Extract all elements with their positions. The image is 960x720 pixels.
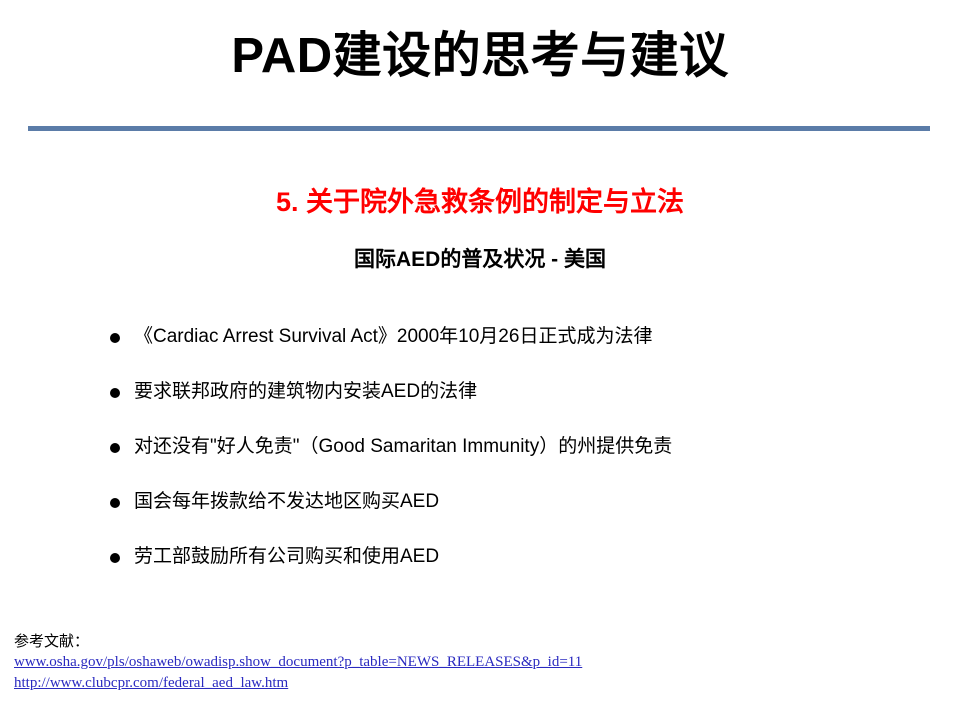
list-item: 国会每年拨款给不发达地区购买AED — [108, 485, 928, 540]
bullet-dot-icon — [110, 333, 120, 343]
list-item: 劳工部鼓励所有公司购买和使用AED — [108, 540, 928, 595]
bullet-dot-icon — [110, 553, 120, 563]
list-item: 《Cardiac Arrest Survival Act》2000年10月26日… — [108, 320, 928, 375]
reference-link-clubcpr[interactable]: http://www.clubcpr.com/federal_aed_law.h… — [14, 673, 944, 694]
references-label: 参考文献： — [14, 632, 944, 652]
list-item-label: 《Cardiac Arrest Survival Act》2000年10月26日… — [134, 320, 652, 354]
references-footer: 参考文献： www.osha.gov/pls/oshaweb/owadisp.s… — [14, 632, 944, 694]
list-item-label: 劳工部鼓励所有公司购买和使用AED — [134, 540, 439, 574]
list-item-label: 国会每年拨款给不发达地区购买AED — [134, 485, 439, 519]
list-item: 要求联邦政府的建筑物内安装AED的法律 — [108, 375, 928, 430]
list-item-label: 要求联邦政府的建筑物内安装AED的法律 — [134, 375, 477, 409]
bullet-dot-icon — [110, 443, 120, 453]
section-heading: 5. 关于院外急救条例的制定与立法 — [0, 180, 960, 219]
page-title: PAD建设的思考与建议 — [0, 28, 960, 84]
list-item: 对还没有"好人免责"（Good Samaritan Immunity）的州提供免… — [108, 430, 928, 485]
bullet-dot-icon — [110, 498, 120, 508]
title-divider-rule — [28, 126, 930, 131]
reference-link-osha[interactable]: www.osha.gov/pls/oshaweb/owadisp.show_do… — [14, 652, 944, 673]
bullet-dot-icon — [110, 388, 120, 398]
list-item-label: 对还没有"好人免责"（Good Samaritan Immunity）的州提供免… — [134, 430, 672, 464]
sub-heading: 国际AED的普及状况 - 美国 — [0, 243, 960, 273]
bullet-list: 《Cardiac Arrest Survival Act》2000年10月26日… — [108, 320, 928, 595]
slide-canvas: PAD建设的思考与建议 5. 关于院外急救条例的制定与立法 国际AED的普及状况… — [0, 0, 960, 720]
